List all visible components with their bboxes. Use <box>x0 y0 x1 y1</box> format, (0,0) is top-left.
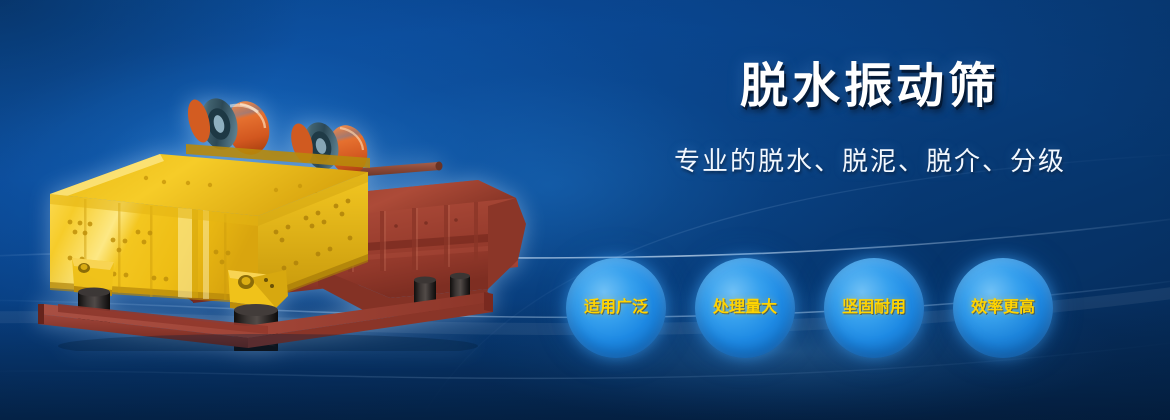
feature-badge-label: 效率更高 <box>971 300 1035 316</box>
feature-badge-label: 坚固耐用 <box>842 300 906 316</box>
feature-badge-label: 适用广泛 <box>584 300 648 316</box>
feature-badge-label: 处理量大 <box>713 300 777 316</box>
background-vignette <box>0 0 1170 420</box>
product-banner: 脱水振动筛 专业的脱水、脱泥、脱介、分级 适用广泛 处理量大 坚固耐用 效率更高 <box>0 0 1170 420</box>
